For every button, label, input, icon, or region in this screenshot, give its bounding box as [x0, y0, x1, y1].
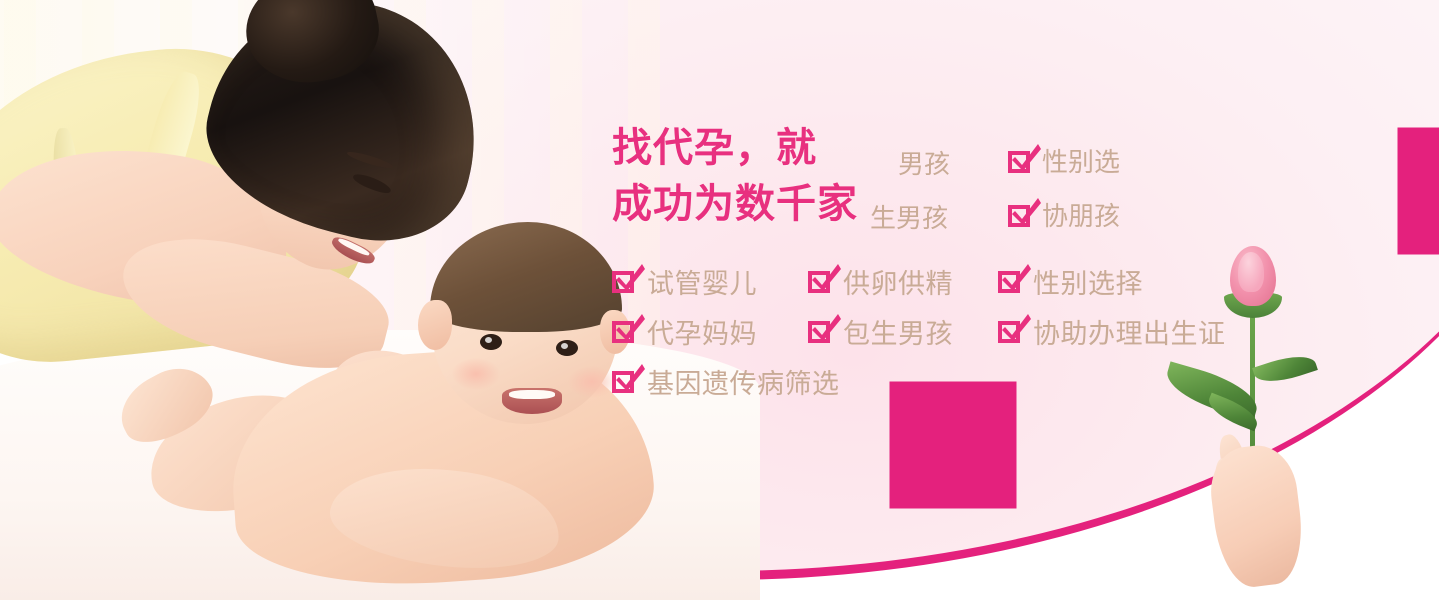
baby-cheek-right — [568, 366, 616, 398]
checkbox-checked-icon — [998, 268, 1024, 294]
mother-and-baby-photo — [0, 0, 640, 600]
checkbox-tick — [811, 314, 841, 342]
service-item-shiguan-yinger[interactable]: 试管婴儿 — [612, 262, 808, 301]
ghost-item-4-label: 协朋孩 — [1042, 196, 1120, 233]
baby-eye-right — [556, 340, 578, 356]
baby-ear-left — [418, 300, 452, 350]
service-item-label: 代孕妈妈 — [647, 312, 757, 351]
ghost-item-2: 生男孩 — [870, 198, 948, 235]
service-list: 试管婴儿 供卵供精 — [612, 256, 1312, 406]
checkbox-tick — [1011, 144, 1041, 172]
service-item-daiyun-mama[interactable]: 代孕妈妈 — [612, 312, 808, 351]
service-item-jiyin-shaixuan[interactable]: 基因遗传病筛选 — [612, 362, 840, 401]
ghost-item-3-label: 性别选 — [1042, 142, 1120, 179]
banner-copy: 男孩 生男孩 性别选 — [612, 128, 1312, 246]
service-item-xingbie-xuanze[interactable]: 性别选择 — [998, 262, 1143, 301]
hand — [1206, 441, 1308, 590]
checkbox-checked-icon — [808, 318, 834, 344]
baby-hair — [430, 222, 622, 332]
ghost-item-1-label: 男孩 — [898, 144, 950, 181]
baby-eye-left — [480, 334, 502, 350]
baby-smiling-mouth — [502, 388, 562, 414]
ghost-item-3: 性别选 — [1008, 142, 1120, 179]
checkbox-tick — [615, 364, 645, 392]
checkbox-tick — [811, 264, 841, 292]
checkbox-box — [1008, 151, 1030, 173]
checkbox-checked-icon — [1008, 202, 1034, 228]
checkbox-checked-icon — [1008, 148, 1034, 174]
checkbox-tick — [615, 264, 645, 292]
headline-area: 男孩 生男孩 性别选 — [612, 128, 1312, 246]
service-row: 试管婴儿 供卵供精 — [612, 256, 1312, 306]
checkbox-checked-icon — [998, 318, 1024, 344]
promo-banner: 男孩 生男孩 性别选 — [0, 0, 1439, 600]
ghost-item-1: 男孩 — [898, 144, 950, 181]
checkbox-tick — [1001, 314, 1031, 342]
service-item-baosheng-nanhai[interactable]: 包生男孩 — [808, 312, 998, 351]
service-item-label: 协助办理出生证 — [1033, 312, 1226, 351]
service-item-label: 试管婴儿 — [647, 262, 757, 301]
service-item-gongluan-gongjing[interactable]: 供卵供精 — [808, 262, 998, 301]
ghost-item-2-label: 生男孩 — [870, 198, 948, 235]
checkbox-tick — [1001, 264, 1031, 292]
service-item-label: 包生男孩 — [843, 312, 953, 351]
service-row: 基因遗传病筛选 — [612, 356, 1312, 406]
headline-line-1: 找代孕，就 — [612, 128, 817, 168]
service-item-chushengzheng[interactable]: 协助办理出生证 — [998, 312, 1226, 351]
checkbox-checked-icon — [808, 268, 834, 294]
checkbox-checked-icon — [612, 318, 638, 344]
service-item-label: 供卵供精 — [843, 262, 953, 301]
baby-cheek-left — [452, 358, 500, 390]
checkbox-checked-icon — [612, 268, 638, 294]
checkbox-tick — [615, 314, 645, 342]
checkbox-checked-icon — [612, 368, 638, 394]
headline-line-2: 成功为数千家 — [612, 184, 858, 224]
ghost-item-4: 协朋孩 — [1008, 196, 1120, 233]
checkbox-tick — [1011, 198, 1041, 226]
service-item-label: 基因遗传病筛选 — [647, 362, 840, 401]
service-row: 代孕妈妈 包生男孩 — [612, 306, 1312, 356]
service-item-label: 性别选择 — [1033, 262, 1143, 301]
checkbox-box — [1008, 205, 1030, 227]
